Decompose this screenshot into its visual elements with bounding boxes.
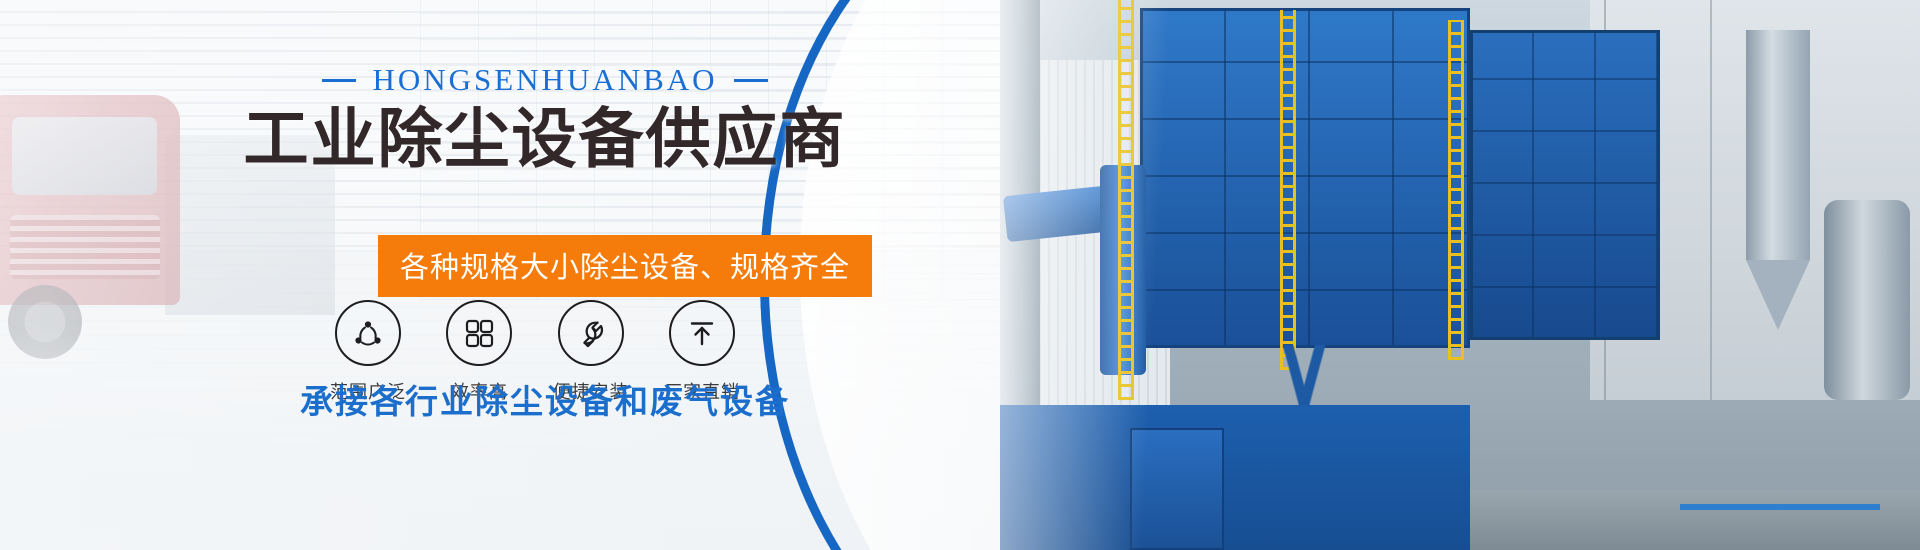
hero-banner: HONGSENHUANBAO 工业除尘设备供应商 各种规格大小除尘设备、规格齐全 [0,0,1920,550]
hero-content: HONGSENHUANBAO 工业除尘设备供应商 各种规格大小除尘设备、规格齐全 [0,0,1000,550]
photo-baghouse-main [1140,8,1470,348]
wrench-icon [558,300,624,366]
dash-right-icon [734,79,768,82]
photo-door [1130,428,1224,550]
page-title: 工业除尘设备供应商 [0,104,1000,177]
photo-cyclone [1746,30,1810,260]
hero-tagline: 承接各行业除尘设备和废气设备 [0,375,1000,423]
dash-left-icon [322,79,356,82]
photo-ladder [1118,0,1134,400]
hero-photo [950,0,1920,550]
brand-eyebrow: HONGSENHUANBAO [0,62,1000,98]
grid-squares-icon [446,300,512,366]
orange-ribbon-text: 各种规格大小除尘设备、规格齐全 [400,244,850,286]
share-network-icon [335,300,401,366]
photo-ladder [1280,10,1296,370]
brand-eyebrow-text: HONGSENHUANBAO [372,62,717,98]
photo-ladder [1448,20,1464,360]
photo-baghouse-secondary [1470,30,1660,340]
photo-tank [1824,200,1910,400]
up-arrow-bar-icon [669,300,735,366]
orange-ribbon: 各种规格大小除尘设备、规格齐全 [378,235,872,297]
photo-railing [1680,504,1880,510]
